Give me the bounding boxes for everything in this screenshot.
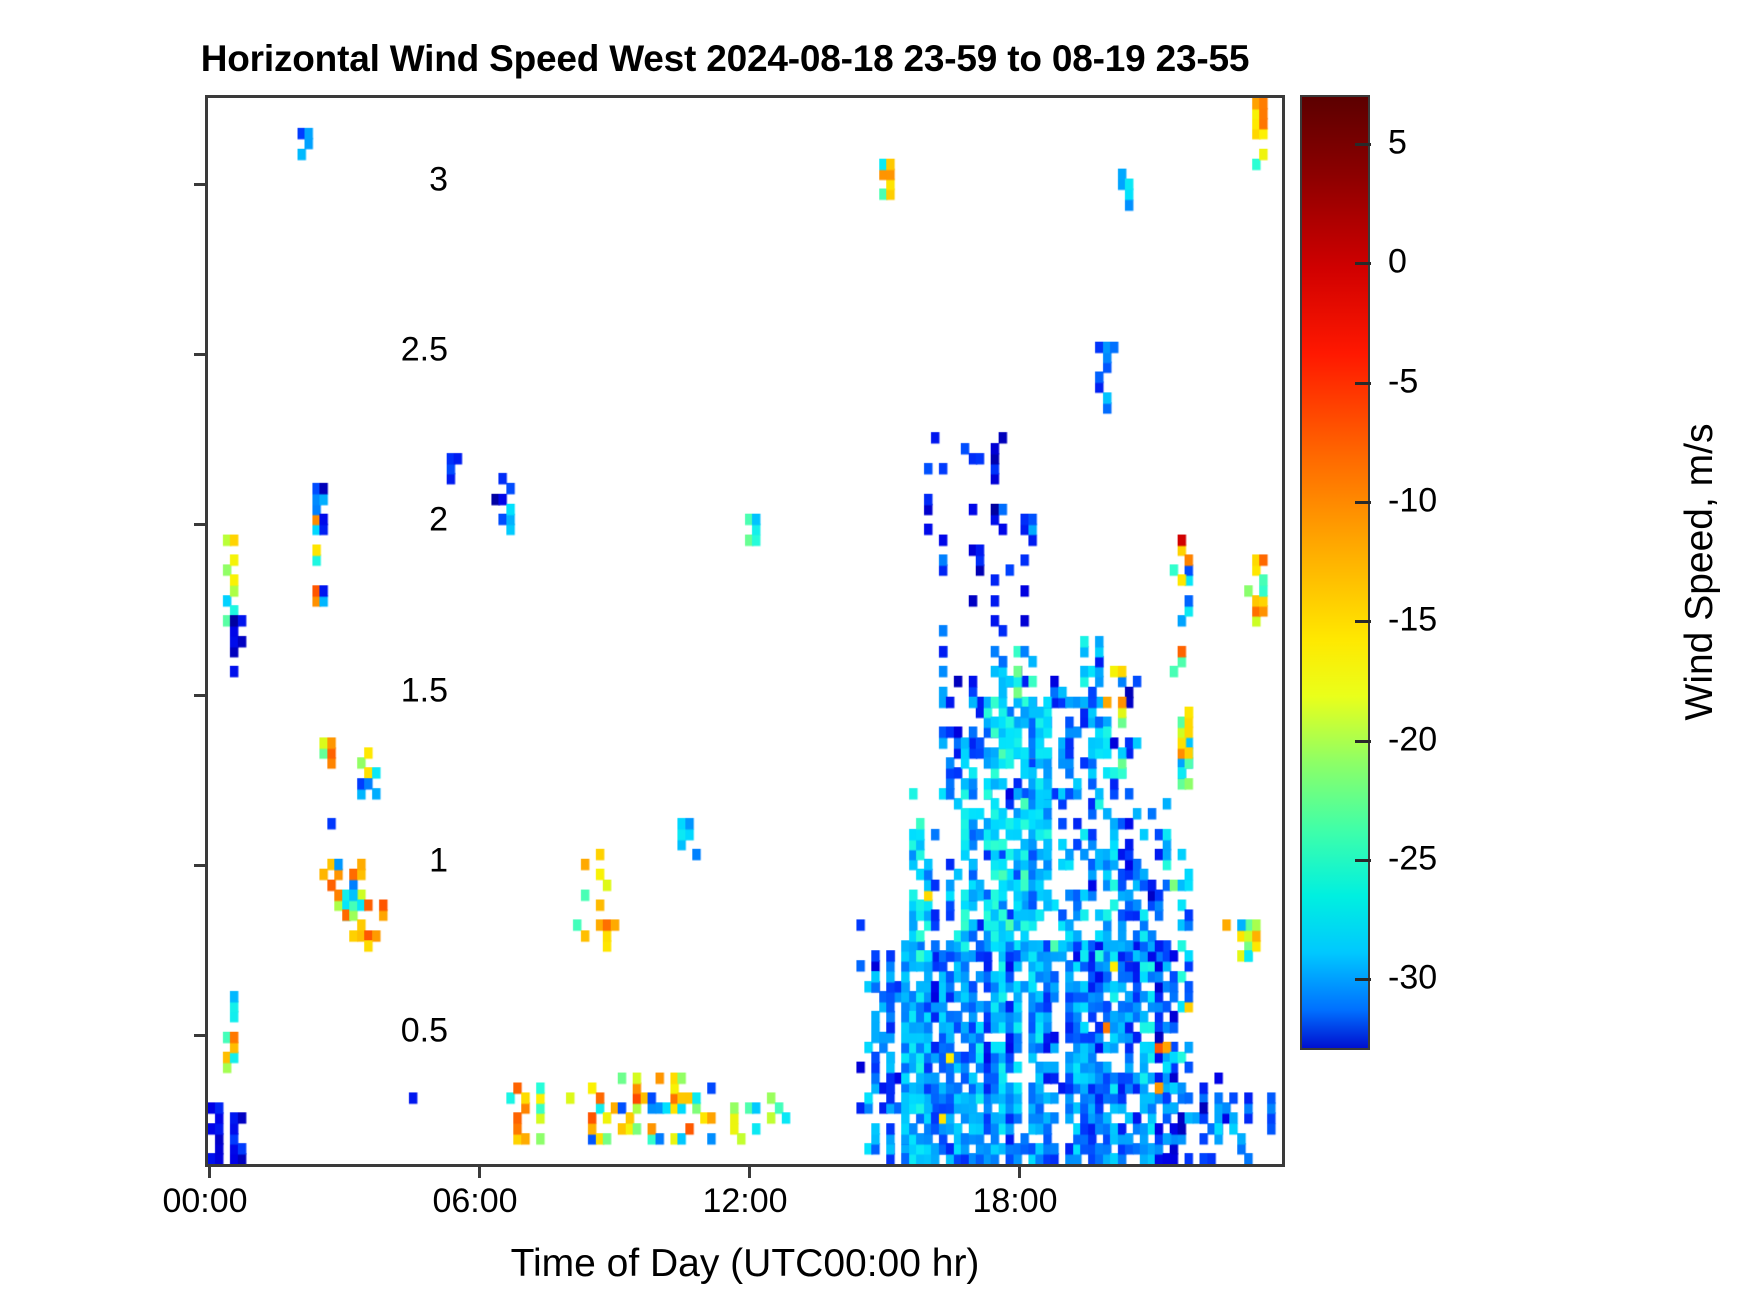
colorbar-tick-label: -10 [1388, 481, 1437, 520]
colorbar-tick-mark [1355, 143, 1371, 146]
y-tick-label: 0.5 [401, 1011, 448, 1050]
y-tick-label: 3 [429, 161, 448, 200]
colorbar[interactable] [1300, 95, 1370, 1050]
plot-area[interactable] [205, 95, 1285, 1167]
colorbar-tick-mark [1355, 501, 1371, 504]
y-tick-mark [194, 523, 208, 526]
y-tick-label: 1 [429, 841, 448, 880]
y-tick-label: 2 [429, 501, 448, 540]
y-tick-label: 2.5 [401, 331, 448, 370]
x-tick-mark [748, 1164, 751, 1178]
colorbar-tick-mark [1355, 859, 1371, 862]
colorbar-tick-label: -30 [1388, 959, 1437, 998]
y-tick-mark [194, 1034, 208, 1037]
y-tick-mark [194, 694, 208, 697]
colorbar-tick-mark [1355, 620, 1371, 623]
colorbar-gradient [1300, 95, 1370, 1050]
colorbar-tick-mark [1355, 262, 1371, 265]
y-tick-mark [194, 183, 208, 186]
colorbar-tick-mark [1355, 382, 1371, 385]
colorbar-tick-label: 0 [1388, 243, 1407, 282]
page-title: Horizontal Wind Speed West 2024-08-18 23… [0, 38, 1450, 80]
colorbar-tick-label: 5 [1388, 123, 1407, 162]
colorbar-tick-label: -5 [1388, 362, 1418, 401]
x-tick-label: 00:00 [162, 1182, 247, 1221]
x-tick-mark [1018, 1164, 1021, 1178]
x-tick-mark [478, 1164, 481, 1178]
colorbar-tick-mark [1355, 740, 1371, 743]
y-tick-label: 1.5 [401, 671, 448, 710]
colorbar-tick-label: -15 [1388, 601, 1437, 640]
x-tick-label: 06:00 [432, 1182, 517, 1221]
x-tick-label: 12:00 [702, 1182, 787, 1221]
colorbar-tick-label: -20 [1388, 720, 1437, 759]
colorbar-tick-label: -25 [1388, 840, 1437, 879]
figure-canvas: Horizontal Wind Speed West 2024-08-18 23… [0, 0, 1750, 1313]
colorbar-label: Wind Speed, m/s [1678, 424, 1722, 721]
y-tick-mark [194, 353, 208, 356]
x-tick-label: 18:00 [972, 1182, 1057, 1221]
y-tick-mark [194, 864, 208, 867]
colorbar-tick-mark [1355, 978, 1371, 981]
x-axis-label: Time of Day (UTC00:00 hr) [205, 1242, 1285, 1286]
heatmap-canvas[interactable] [208, 98, 1282, 1164]
x-tick-mark [208, 1164, 211, 1178]
